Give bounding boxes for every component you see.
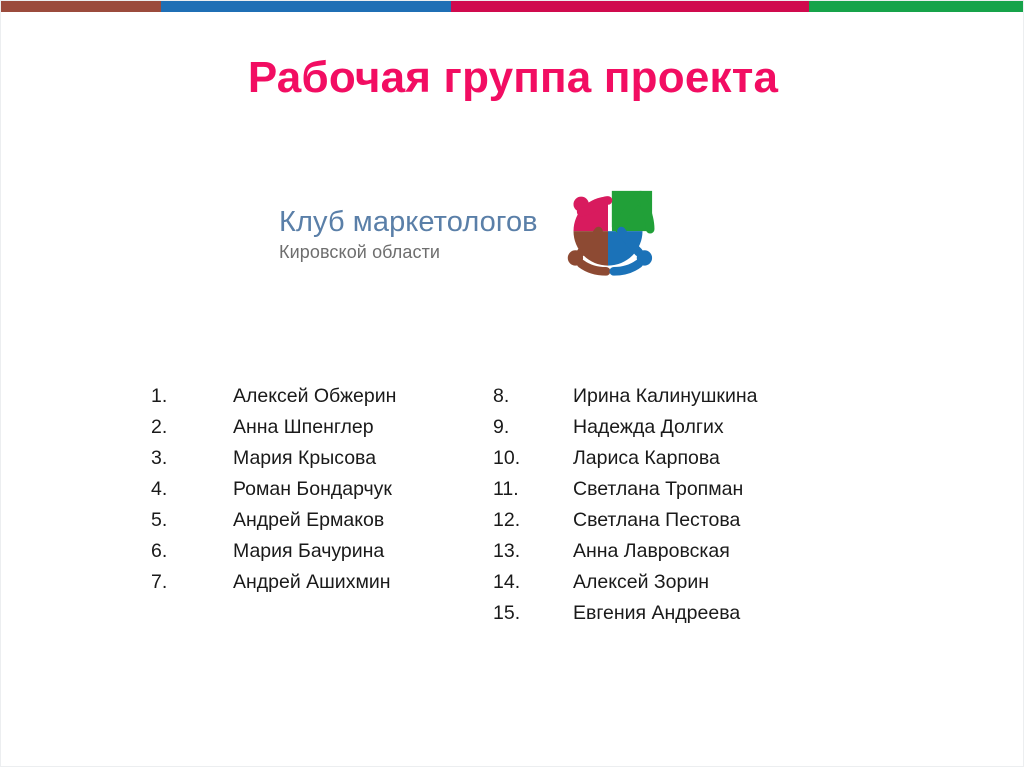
list-item-name: Евгения Андреева: [573, 598, 740, 629]
list-item-number: 8.: [493, 381, 573, 412]
logo-text: Клуб маркетологов Кировской области: [279, 202, 538, 264]
list-item-name: Лариса Карпова: [573, 443, 720, 474]
logo: Клуб маркетологов Кировской области: [279, 187, 656, 279]
list-item: 12.Светлана Пестова: [493, 505, 757, 536]
list-item: 11.Светлана Тропман: [493, 474, 757, 505]
list-item-number: 1.: [151, 381, 233, 412]
list-item: 3.Мария Крысова: [151, 443, 396, 474]
list-item-number: 12.: [493, 505, 573, 536]
list-item: 13.Анна Лавровская: [493, 536, 757, 567]
logo-title: Клуб маркетологов: [279, 206, 538, 238]
list-item: 6.Мария Бачурина: [151, 536, 396, 567]
list-item: 5.Андрей Ермаков: [151, 505, 396, 536]
members-lists: 1.Алексей Обжерин2.Анна Шпенглер3.Мария …: [1, 381, 1024, 641]
logo-subtitle: Кировской области: [279, 242, 538, 264]
list-item: 9.Надежда Долгих: [493, 412, 757, 443]
list-item-number: 7.: [151, 567, 233, 598]
list-item-name: Роман Бондарчук: [233, 474, 392, 505]
list-item-number: 13.: [493, 536, 573, 567]
club-logo-mark-icon: [560, 187, 656, 279]
topbar-segment-green: [809, 1, 1024, 12]
list-item-number: 10.: [493, 443, 573, 474]
list-item-number: 15.: [493, 598, 573, 629]
members-left-column: 1.Алексей Обжерин2.Анна Шпенглер3.Мария …: [151, 381, 396, 598]
list-item-name: Андрей Ашихмин: [233, 567, 391, 598]
list-item-name: Светлана Пестова: [573, 505, 740, 536]
list-item: 8.Ирина Калинушкина: [493, 381, 757, 412]
list-item-name: Анна Лавровская: [573, 536, 730, 567]
list-item: 1.Алексей Обжерин: [151, 381, 396, 412]
list-item: 10.Лариса Карпова: [493, 443, 757, 474]
list-item-number: 5.: [151, 505, 233, 536]
list-item-number: 9.: [493, 412, 573, 443]
list-item-number: 4.: [151, 474, 233, 505]
list-item-name: Анна Шпенглер: [233, 412, 374, 443]
list-item-number: 3.: [151, 443, 233, 474]
list-item-name: Светлана Тропман: [573, 474, 743, 505]
topbar-segment-pink: [451, 1, 809, 12]
list-item: 4.Роман Бондарчук: [151, 474, 396, 505]
list-item-number: 11.: [493, 474, 573, 505]
list-item-name: Андрей Ермаков: [233, 505, 384, 536]
members-right-column: 8.Ирина Калинушкина9.Надежда Долгих10.Ла…: [493, 381, 757, 629]
list-item-number: 14.: [493, 567, 573, 598]
list-item-name: Алексей Обжерин: [233, 381, 396, 412]
list-item: 2.Анна Шпенглер: [151, 412, 396, 443]
slide: Рабочая группа проекта Клуб маркетологов…: [0, 0, 1024, 767]
page-title: Рабочая группа проекта: [1, 53, 1024, 104]
list-item-name: Надежда Долгих: [573, 412, 724, 443]
topbar-segment-brown: [1, 1, 161, 12]
list-item-name: Мария Бачурина: [233, 536, 384, 567]
topbar-segment-blue: [161, 1, 451, 12]
list-item: 14.Алексей Зорин: [493, 567, 757, 598]
list-item-name: Алексей Зорин: [573, 567, 709, 598]
list-item-number: 2.: [151, 412, 233, 443]
topbar: [1, 1, 1024, 12]
list-item-name: Мария Крысова: [233, 443, 376, 474]
list-item-name: Ирина Калинушкина: [573, 381, 757, 412]
list-item: 7.Андрей Ашихмин: [151, 567, 396, 598]
list-item: 15.Евгения Андреева: [493, 598, 757, 629]
list-item-number: 6.: [151, 536, 233, 567]
